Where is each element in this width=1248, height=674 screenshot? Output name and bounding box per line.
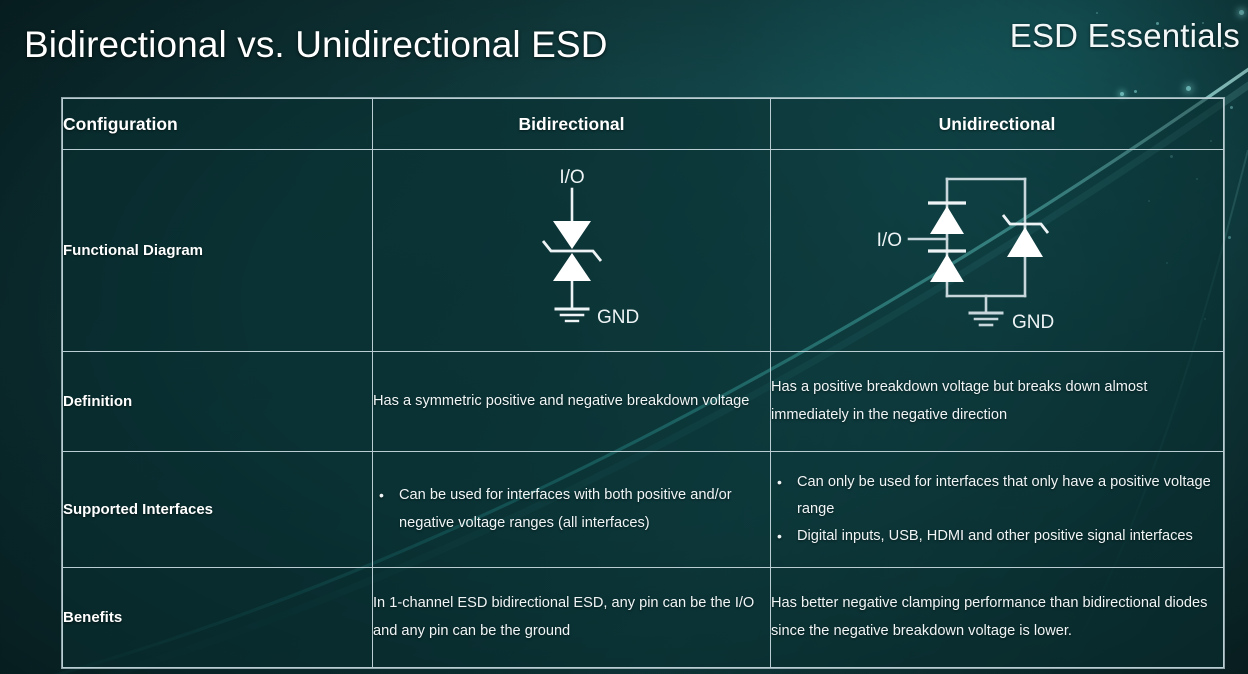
table-row: Supported Interfaces Can be used for int… bbox=[63, 452, 1224, 568]
table-header-row: Configuration Bidirectional Unidirection… bbox=[63, 99, 1224, 150]
column-header-unidirectional: Unidirectional bbox=[771, 99, 1224, 150]
steering-diode-lower bbox=[930, 254, 964, 282]
benefits-unidirectional-text: Has better negative clamping performance… bbox=[771, 568, 1224, 668]
comparison-table-wrapper: Configuration Bidirectional Unidirection… bbox=[62, 98, 1224, 666]
row-label-definition: Definition bbox=[63, 352, 373, 452]
brand-label: ESD Essentials bbox=[1010, 17, 1240, 55]
bidirectional-functional-diagram-cell: I/O GND bbox=[373, 150, 771, 352]
column-header-configuration: Configuration bbox=[63, 99, 373, 150]
definition-unidirectional-text: Has a positive breakdown voltage but bre… bbox=[771, 352, 1224, 452]
diode-triangle-lower bbox=[553, 253, 591, 281]
unidirectional-tvs-diagram: I/O GND bbox=[862, 163, 1132, 339]
definition-bidirectional-text: Has a symmetric positive and negative br… bbox=[373, 352, 771, 452]
io-label: I/O bbox=[559, 167, 584, 188]
table-row: Definition Has a symmetric positive and … bbox=[63, 352, 1224, 452]
zener-diode bbox=[1007, 227, 1043, 257]
unidirectional-functional-diagram-cell: I/O GND bbox=[771, 150, 1224, 352]
gnd-label: GND bbox=[1012, 312, 1054, 333]
supported-interfaces-unidirectional-cell: Can only be used for interfaces that onl… bbox=[771, 452, 1224, 568]
steering-diode-upper bbox=[930, 206, 964, 234]
row-label-supported-interfaces: Supported Interfaces bbox=[63, 452, 373, 568]
benefits-bidirectional-text: In 1-channel ESD bidirectional ESD, any … bbox=[373, 568, 771, 668]
gnd-label: GND bbox=[597, 307, 639, 328]
list-item: Can only be used for interfaces that onl… bbox=[775, 469, 1223, 523]
row-label-functional-diagram: Functional Diagram bbox=[63, 150, 373, 352]
supported-interfaces-bidirectional-cell: Can be used for interfaces with both pos… bbox=[373, 452, 771, 568]
table-row: Functional Diagram bbox=[63, 150, 1224, 352]
row-label-benefits: Benefits bbox=[63, 568, 373, 668]
list-item: Digital inputs, USB, HDMI and other posi… bbox=[775, 523, 1223, 550]
bidirectional-tvs-diagram: I/O GND bbox=[477, 163, 667, 339]
comparison-table: Configuration Bidirectional Unidirection… bbox=[62, 98, 1224, 668]
list-item: Can be used for interfaces with both pos… bbox=[377, 482, 770, 536]
table-row: Benefits In 1-channel ESD bidirectional … bbox=[63, 568, 1224, 668]
column-header-bidirectional: Bidirectional bbox=[373, 99, 771, 150]
page-title: Bidirectional vs. Unidirectional ESD bbox=[24, 24, 608, 66]
io-label: I/O bbox=[877, 230, 902, 251]
diode-triangle-upper bbox=[553, 221, 591, 249]
